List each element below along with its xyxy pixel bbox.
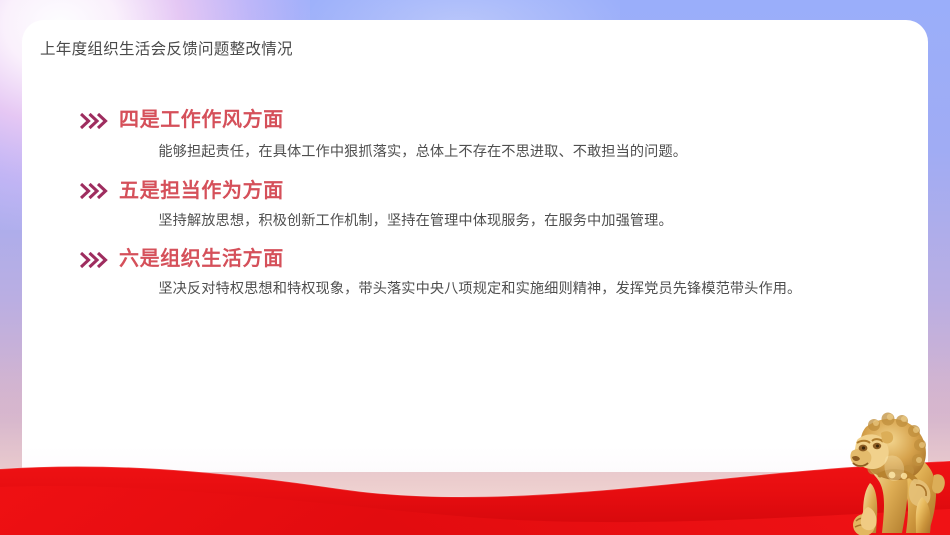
presentation-slide: 上年度组织生活会反馈问题整改情况 四是工作作风方面 能够担起责任，在具体工作中狠… — [0, 0, 950, 535]
section-body: 坚持解放思想，积极创新工作机制，坚持在管理中体现服务，在服务中加强管理。 — [130, 208, 848, 236]
section-item: 六是组织生活方面 坚决反对特权思想和特权现象，带头落实中央八项规定和实施细则精神… — [80, 247, 888, 304]
section-heading: 四是工作作风方面 — [119, 108, 284, 133]
section-item: 四是工作作风方面 能够担起责任，在具体工作中狠抓落实，总体上不存在不思进取、不敢… — [80, 108, 888, 167]
section-header: 六是组织生活方面 — [80, 247, 888, 272]
section-header: 五是担当作为方面 — [80, 179, 888, 204]
red-ribbon-wave — [0, 425, 950, 535]
section-heading: 五是担当作为方面 — [119, 179, 284, 204]
section-body: 坚决反对特权思想和特权现象，带头落实中央八项规定和实施细则精神，发挥党员先锋模范… — [130, 276, 848, 304]
section-list: 四是工作作风方面 能够担起责任，在具体工作中狠抓落实，总体上不存在不思进取、不敢… — [80, 108, 888, 316]
section-header: 四是工作作风方面 — [80, 108, 888, 133]
chevrons-icon — [80, 112, 110, 130]
chevrons-icon — [80, 182, 110, 200]
section-heading: 六是组织生活方面 — [119, 247, 284, 272]
slide-title: 上年度组织生活会反馈问题整改情况 — [40, 38, 340, 61]
section-body: 能够担起责任，在具体工作中狠抓落实，总体上不存在不思进取、不敢担当的问题。 — [130, 139, 848, 167]
guardian-lion-statue — [836, 405, 948, 535]
section-item: 五是担当作为方面 坚持解放思想，积极创新工作机制，坚持在管理中体现服务，在服务中… — [80, 179, 888, 236]
chevrons-icon — [80, 251, 110, 269]
content-card: 上年度组织生活会反馈问题整改情况 四是工作作风方面 能够担起责任，在具体工作中狠… — [22, 20, 928, 472]
